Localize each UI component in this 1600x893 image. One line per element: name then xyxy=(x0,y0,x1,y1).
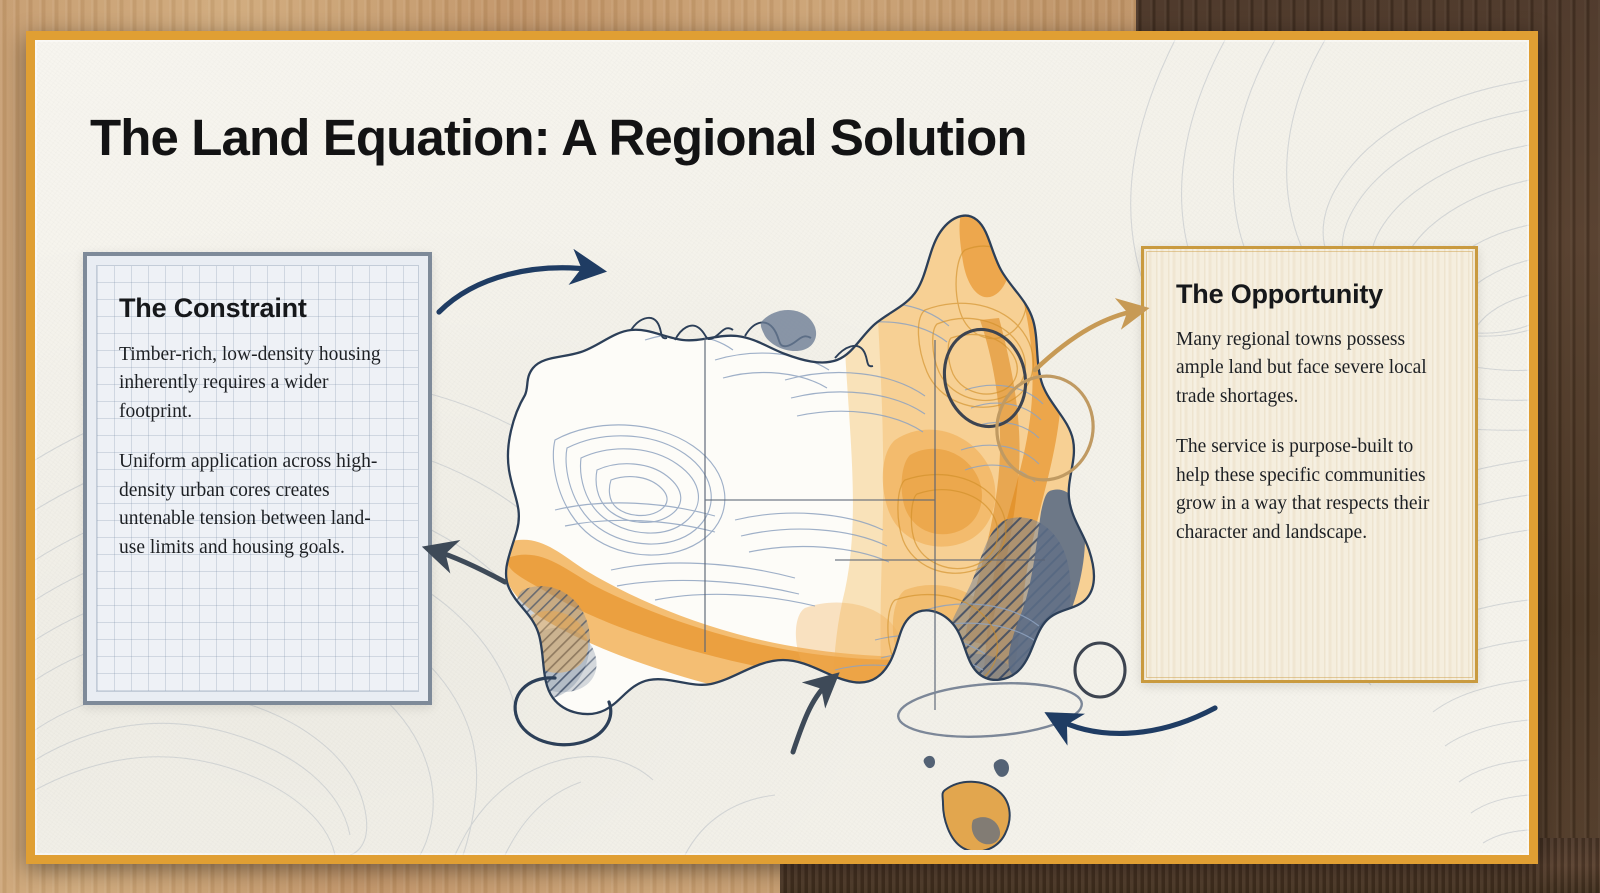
constraint-panel: The Constraint Timber-rich, low-density … xyxy=(83,252,432,705)
australia-map-svg xyxy=(405,190,1165,850)
constraint-paragraph-1: Timber-rich, low-density housing inheren… xyxy=(119,341,396,426)
opportunity-panel: The Opportunity Many regional towns poss… xyxy=(1141,246,1478,683)
australia-map xyxy=(405,190,1165,850)
opportunity-heading: The Opportunity xyxy=(1176,279,1447,310)
ellipse-southeast-base xyxy=(896,678,1083,743)
slide-stage: The Land Equation: A Regional Solution xyxy=(0,0,1600,893)
slide-canvas: The Land Equation: A Regional Solution xyxy=(35,40,1529,855)
tasmania xyxy=(943,782,1010,850)
constraint-heading: The Constraint xyxy=(119,293,396,324)
opportunity-paragraph-1: Many regional towns possess ample land b… xyxy=(1176,326,1447,411)
page-title: The Land Equation: A Regional Solution xyxy=(90,108,1027,167)
opportunity-paragraph-2: The service is purpose-built to help the… xyxy=(1176,433,1447,547)
circle-southeast-small xyxy=(1075,643,1125,697)
slide-frame: The Land Equation: A Regional Solution xyxy=(26,31,1538,864)
constraint-panel-inner: The Constraint Timber-rich, low-density … xyxy=(96,265,419,692)
constraint-paragraph-2: Uniform application across high-density … xyxy=(119,448,396,562)
